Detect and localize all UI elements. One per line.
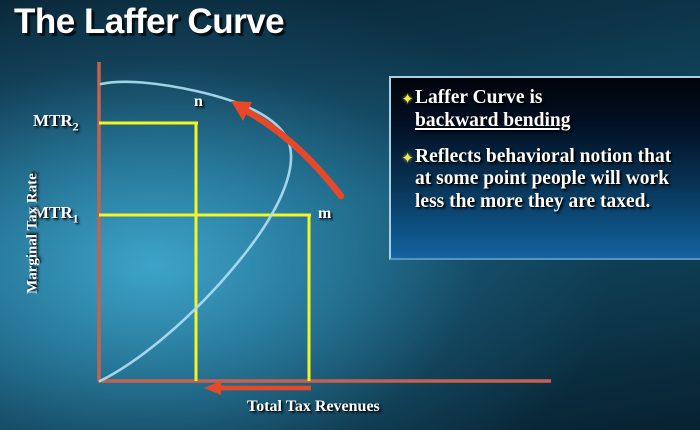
y-axis-title: Marginal Tax Rate bbox=[25, 149, 42, 319]
y-tick-mtr2-subscript: 2 bbox=[73, 119, 79, 133]
y-tick-mtr2-text: MTR bbox=[33, 111, 73, 130]
diamond-bullet-icon: ✦ bbox=[400, 93, 415, 108]
y-tick-mtr1-subscript: 1 bbox=[73, 211, 79, 225]
bullet-item-2-text: Reflects behavioral notion that at some … bbox=[415, 146, 692, 214]
bullet-1-line1: Laffer Curve is bbox=[415, 87, 542, 108]
diamond-bullet-icon: ✦ bbox=[400, 152, 415, 167]
y-tick-label-mtr2: MTR2 bbox=[33, 111, 79, 134]
chart-guide-lines bbox=[99, 123, 311, 381]
bullet-1-line2-underlined: backward bending bbox=[415, 110, 571, 131]
revenue-decrease-arrow-icon bbox=[204, 381, 311, 395]
x-axis-title: Total Tax Revenues bbox=[247, 398, 380, 416]
bullet-item-1-text: Laffer Curve isbackward bending bbox=[415, 87, 692, 133]
point-label-m: m bbox=[318, 205, 331, 223]
callout-textbox: ✦ Laffer Curve isbackward bending ✦ Refl… bbox=[389, 76, 700, 260]
bullet-item-1: ✦ Laffer Curve isbackward bending bbox=[400, 87, 692, 133]
point-label-n: n bbox=[194, 93, 203, 111]
horizontal-arrow-head bbox=[204, 381, 221, 395]
slide-canvas: The Laffer Curve MTR2 MT bbox=[0, 0, 700, 430]
bullet-item-2: ✦ Reflects behavioral notion that at som… bbox=[400, 146, 692, 214]
